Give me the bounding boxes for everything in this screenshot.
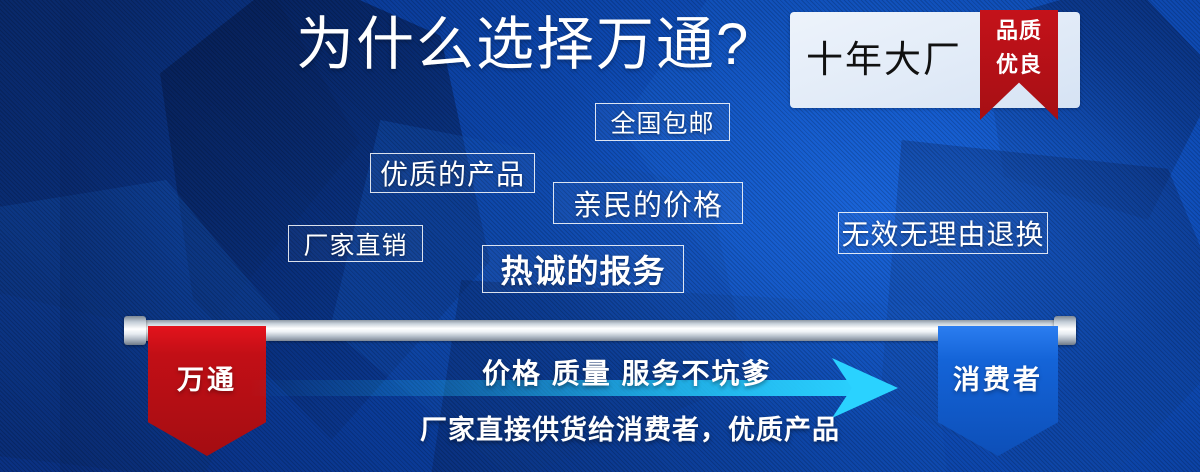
badge-panel-label: 十年大厂 (806, 36, 962, 84)
feature-tag-friendly-price: 亲民的价格 (553, 182, 743, 224)
rod-cap-left-icon (124, 316, 146, 345)
banner-rod (128, 320, 1076, 341)
flag-consumer-label: 消费者 (953, 358, 1043, 397)
arrow-caption-bottom: 厂家直接供货给消费者，优质产品 (420, 408, 840, 447)
quality-ribbon-icon: 品质 优良 (980, 10, 1058, 120)
ribbon-line-1: 品质 (980, 10, 1058, 44)
promo-banner: 为什么选择万通? 十年大厂 品质 优良 全国包邮 优质的产品 亲民的价格 厂家直… (0, 0, 1200, 472)
ribbon-line-2: 优良 (980, 44, 1058, 78)
arrow-caption-top: 价格 质量 服务不坑爹 (482, 352, 772, 392)
feature-tag-factory-direct: 厂家直销 (288, 225, 423, 262)
feature-tag-free-return: 无效无理由退换 (838, 212, 1048, 254)
feature-tag-quality-product: 优质的产品 (370, 153, 535, 193)
feature-tag-sincere-service: 热诚的报务 (482, 245, 684, 293)
feature-tag-free-shipping: 全国包邮 (595, 103, 730, 141)
quality-badge-panel: 十年大厂 品质 优良 (790, 12, 1080, 108)
flag-manufacturer-label: 万通 (177, 358, 237, 397)
page-title: 为什么选择万通? (296, 16, 750, 74)
